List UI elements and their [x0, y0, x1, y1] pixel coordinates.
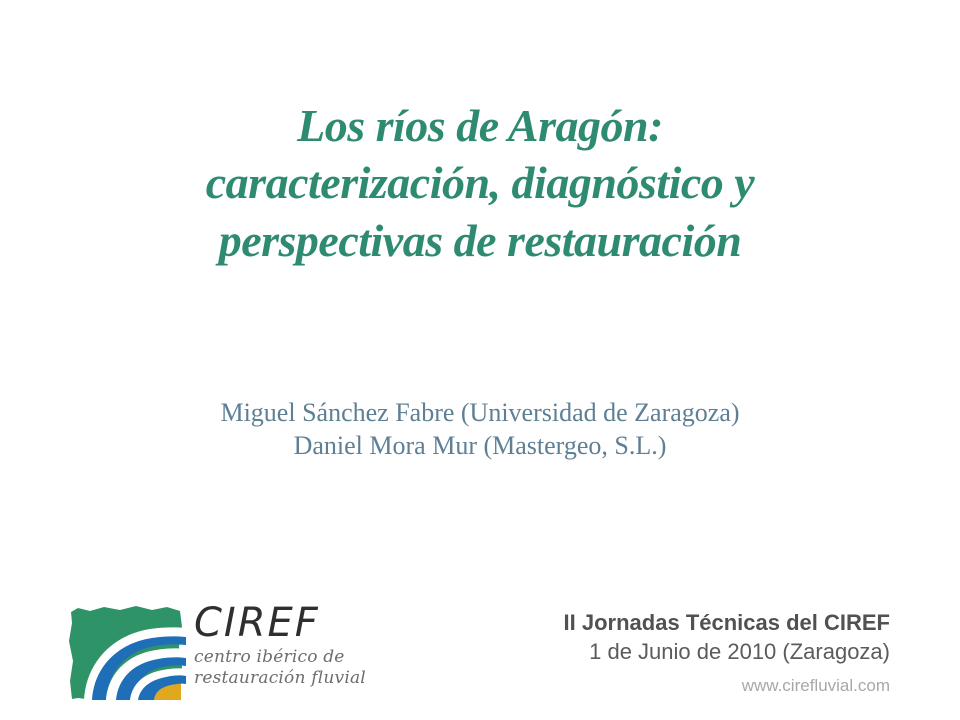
ciref-logo-tagline-line-1: centro ibérico de [194, 647, 384, 668]
footer-website-url[interactable]: www.cirefluvial.com [490, 673, 890, 699]
ciref-logo-tagline-line-2: restauración fluvial [194, 668, 384, 689]
ciref-logo-mark-icon [68, 603, 186, 703]
author-line-1: Miguel Sánchez Fabre (Universidad de Zar… [0, 396, 960, 429]
footer-event-date: 1 de Junio de 2010 (Zaragoza) [490, 637, 890, 667]
ciref-logo-name: CIREF [194, 601, 384, 645]
slide-authors: Miguel Sánchez Fabre (Universidad de Zar… [0, 396, 960, 462]
ciref-logo-wordmark: CIREF centro ibérico de restauración flu… [194, 601, 384, 689]
slide-footer: II Jornadas Técnicas del CIREF 1 de Juni… [490, 608, 890, 699]
title-line-1: Los ríos de Aragón: [0, 98, 960, 154]
presentation-slide: Los ríos de Aragón: caracterización, dia… [0, 0, 960, 720]
author-line-2: Daniel Mora Mur (Mastergeo, S.L.) [0, 429, 960, 462]
ciref-logo-tagline: centro ibérico de restauración fluvial [194, 647, 384, 689]
title-line-3: perspectivas de restauración [0, 212, 960, 270]
slide-title: Los ríos de Aragón: caracterización, dia… [0, 98, 960, 270]
ciref-logo: CIREF centro ibérico de restauración flu… [68, 603, 378, 707]
title-line-2: caracterización, diagnóstico y [0, 154, 960, 212]
footer-event-title: II Jornadas Técnicas del CIREF [490, 608, 890, 637]
